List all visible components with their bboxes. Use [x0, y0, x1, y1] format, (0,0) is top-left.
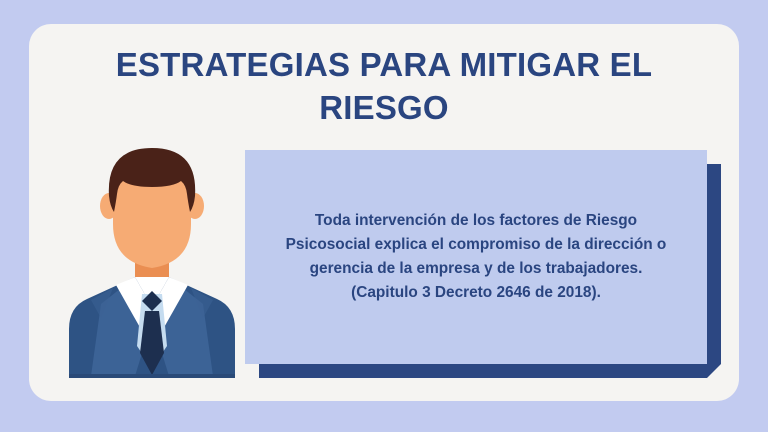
quote-block: Toda intervención de los factores de Rie…: [245, 150, 721, 378]
businessman-avatar-icon: [69, 134, 235, 382]
quote-box: Toda intervención de los factores de Rie…: [245, 150, 707, 364]
page-title: ESTRATEGIAS PARA MITIGAR EL RIESGO: [89, 44, 679, 130]
slide-root: ESTRATEGIAS PARA MITIGAR EL RIESGO: [0, 0, 768, 432]
quote-text: Toda intervención de los factores de Rie…: [279, 209, 673, 305]
content-card: ESTRATEGIAS PARA MITIGAR EL RIESGO: [29, 24, 739, 401]
